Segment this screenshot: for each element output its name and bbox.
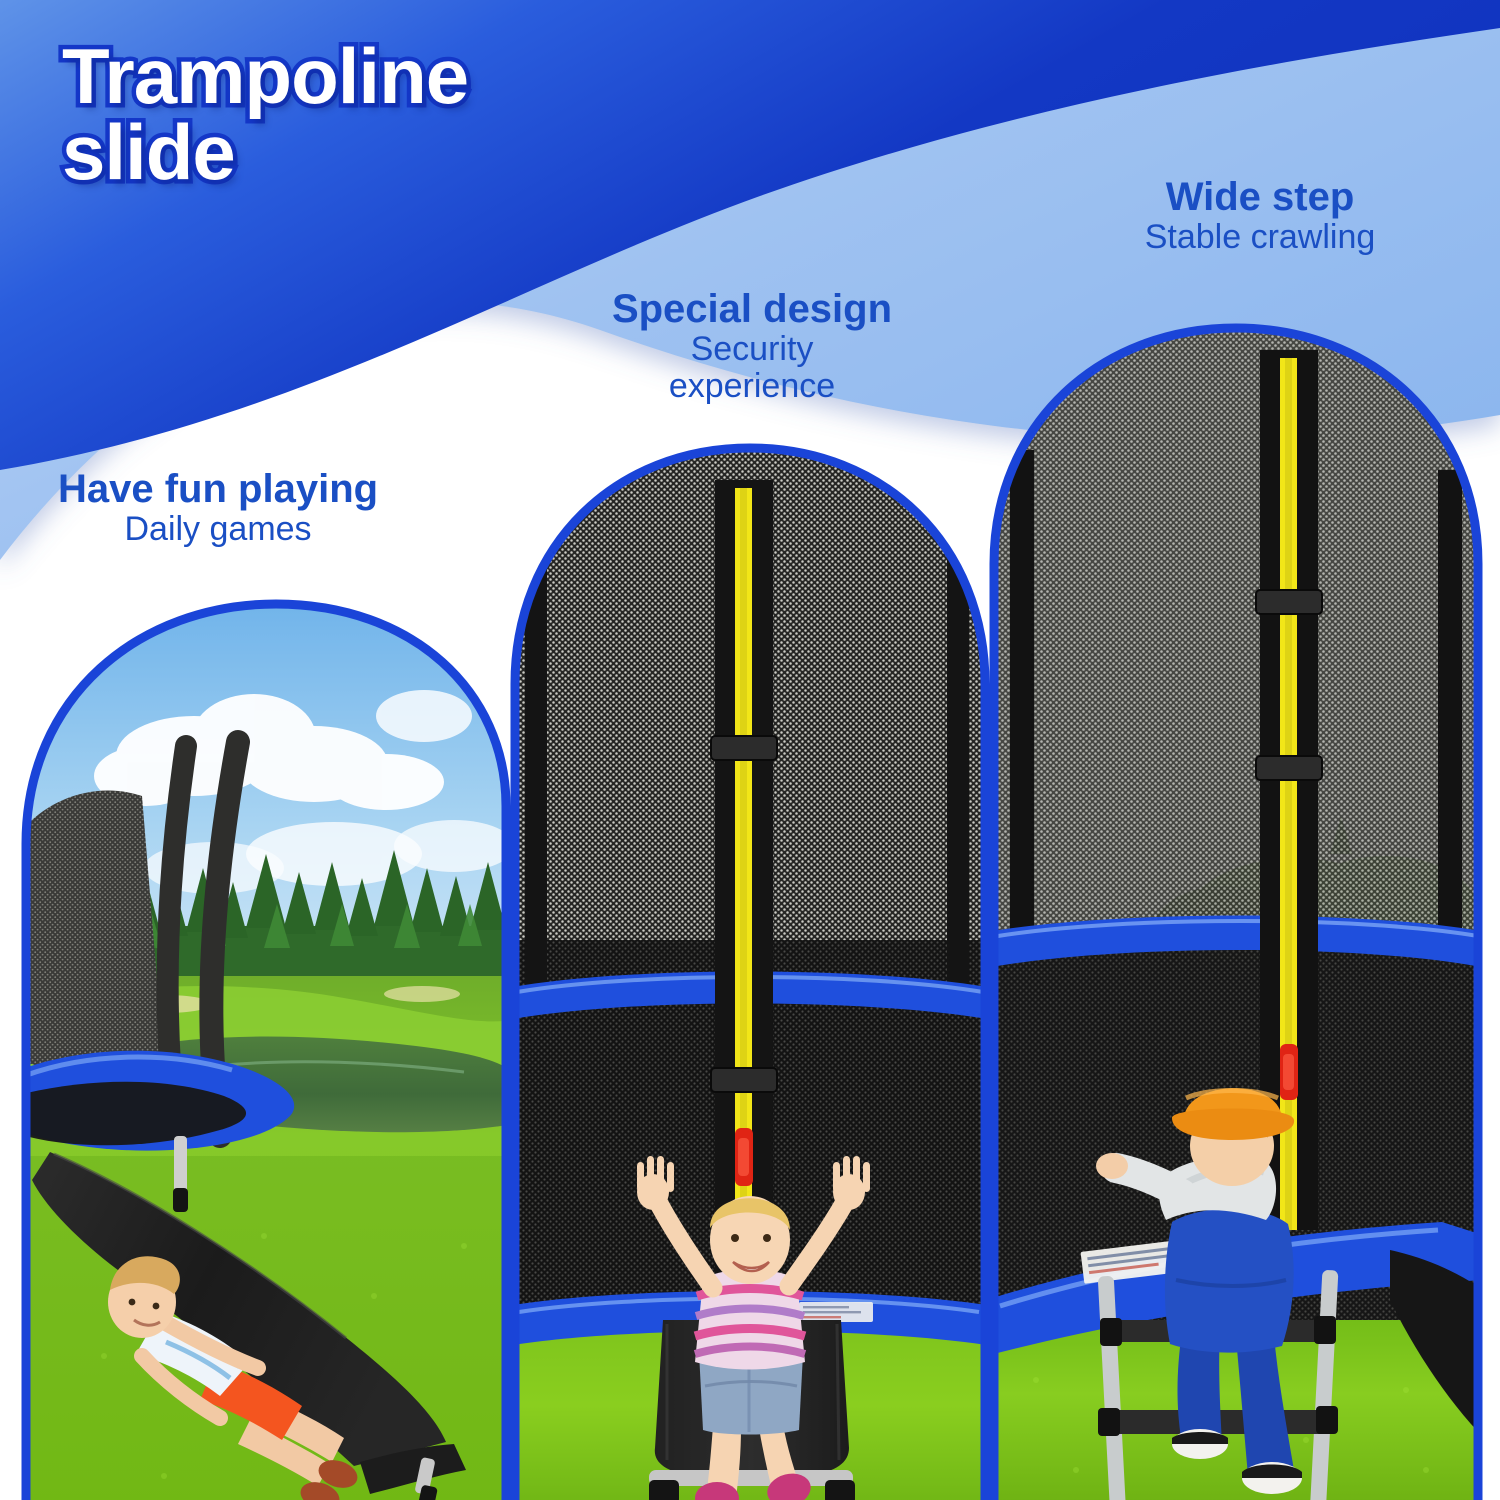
page-title: Trampoline slide bbox=[62, 38, 682, 191]
trampoline-leg bbox=[174, 1136, 187, 1192]
photo-panel-have-fun-playing bbox=[14, 596, 514, 1500]
wide-step-title: Wide step bbox=[1060, 176, 1460, 219]
net-zipper-column bbox=[711, 480, 777, 1310]
net-strap-left bbox=[1010, 450, 1034, 950]
special-design-photo-content bbox=[507, 440, 993, 1500]
special-design-subtitle-line-2: experience bbox=[547, 368, 957, 405]
strap-buckle bbox=[1256, 756, 1322, 780]
safety-net-mesh bbox=[26, 791, 164, 1076]
safety-net-upper-mesh bbox=[986, 320, 1486, 960]
net-strap-right bbox=[1438, 470, 1462, 950]
feature-heading-wide-step: Wide step Stable crawling bbox=[1060, 176, 1460, 256]
have-fun-title: Have fun playing bbox=[58, 468, 378, 511]
wide-step-subtitle: Stable crawling bbox=[1060, 219, 1460, 256]
title-line-1: Trampoline bbox=[62, 38, 682, 114]
wide-step-photo-content bbox=[986, 320, 1486, 1500]
strap-buckle bbox=[711, 736, 777, 760]
title-line-2: slide bbox=[62, 114, 682, 190]
net-strap-left bbox=[525, 550, 547, 1010]
slide-foot-cap bbox=[825, 1480, 855, 1500]
photo-panel-wide-step bbox=[986, 320, 1486, 1500]
have-fun-subtitle: Daily games bbox=[58, 511, 378, 548]
feature-heading-have-fun: Have fun playing Daily games bbox=[58, 468, 378, 548]
slide-foot-bar bbox=[649, 1470, 853, 1486]
have-fun-photo-content bbox=[14, 596, 514, 1500]
photo-panel-special-design bbox=[507, 440, 993, 1500]
infographic-canvas: Trampoline slide Wide step Stable crawli… bbox=[0, 0, 1500, 1500]
strap-buckle bbox=[711, 1068, 777, 1092]
hand bbox=[1096, 1153, 1128, 1179]
special-design-title: Special design bbox=[547, 288, 957, 331]
net-strap-right bbox=[947, 560, 969, 1010]
special-design-subtitle-line-1: Security bbox=[547, 331, 957, 368]
slide-foot-cap bbox=[649, 1480, 679, 1500]
strap-buckle bbox=[1256, 590, 1322, 614]
feature-heading-special-design: Special design Security experience bbox=[547, 288, 957, 406]
